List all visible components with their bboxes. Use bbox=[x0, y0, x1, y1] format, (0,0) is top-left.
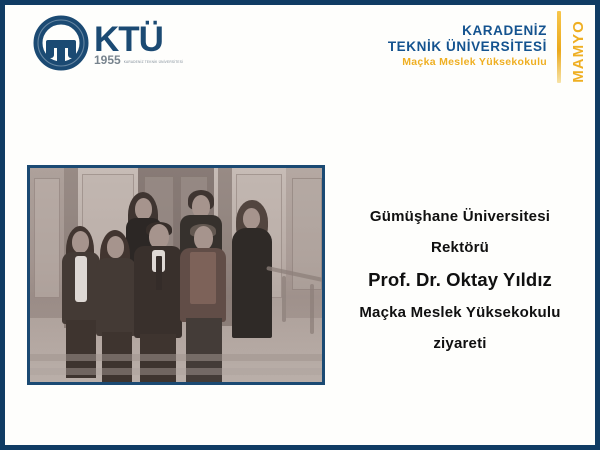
ktu-circular-emblem-icon bbox=[33, 15, 89, 71]
ktu-wordmark-text: KTÜ bbox=[94, 23, 163, 57]
ktu-logo-subline: 1955 KARADENİZ TEKNİK ÜNİVERSİTESİ bbox=[94, 54, 183, 66]
caption-line-5: ziyareti bbox=[335, 328, 585, 359]
institution-titles: KARADENİZ TEKNİK ÜNİVERSİTESİ Maçka Mesl… bbox=[388, 23, 547, 70]
mamyo-vertical-label-text: MAMYO bbox=[570, 20, 587, 83]
institution-title-line1: KARADENİZ bbox=[388, 23, 547, 39]
slide-header: KTÜ 1955 KARADENİZ TEKNİK ÜNİVERSİTESİ K… bbox=[5, 5, 595, 110]
caption-line-4: Maçka Meslek Yüksekokulu bbox=[335, 297, 585, 328]
gold-divider-rule bbox=[557, 11, 561, 83]
group-photo-frame bbox=[27, 165, 325, 385]
ktu-logo: KTÜ 1955 KARADENİZ TEKNİK ÜNİVERSİTESİ bbox=[33, 15, 183, 71]
institution-title-line2: TEKNİK ÜNİVERSİTESİ bbox=[388, 39, 547, 55]
caption-line-3: Prof. Dr. Oktay Yıldız bbox=[335, 263, 585, 297]
caption-block: Gümüşhane Üniversitesi Rektörü Prof. Dr.… bbox=[335, 201, 585, 359]
mamyo-vertical-label: MAMYO bbox=[565, 11, 591, 91]
caption-line-1: Gümüşhane Üniversitesi bbox=[335, 201, 585, 232]
caption-line-2: Rektörü bbox=[335, 232, 585, 263]
institution-subtitle: Maçka Meslek Yüksekokulu bbox=[388, 55, 547, 70]
ktu-wordmark: KTÜ 1955 KARADENİZ TEKNİK ÜNİVERSİTESİ bbox=[94, 21, 183, 66]
ktu-fine-print: KARADENİZ TEKNİK ÜNİVERSİTESİ bbox=[124, 61, 183, 66]
ktu-founding-year: 1955 bbox=[94, 54, 121, 66]
group-photo-image bbox=[30, 168, 322, 382]
slide-canvas: KTÜ 1955 KARADENİZ TEKNİK ÜNİVERSİTESİ K… bbox=[0, 0, 600, 450]
